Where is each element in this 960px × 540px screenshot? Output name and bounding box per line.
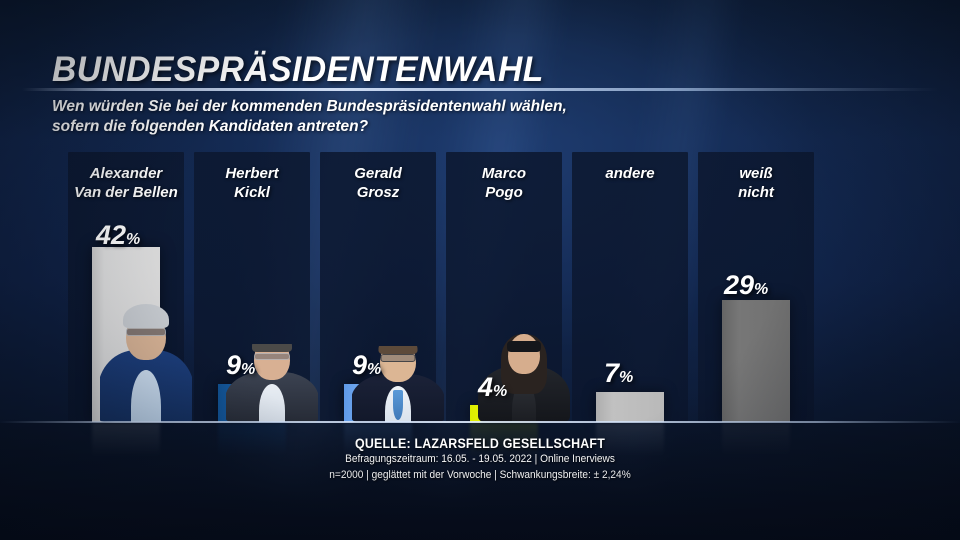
source-title: QUELLE: LAZARSFELD GESELLSCHAFT: [38, 436, 921, 451]
chart-column-weiss-nicht: weißnicht: [698, 152, 814, 422]
source-block: QUELLE: LAZARSFELD GESELLSCHAFT Befragun…: [0, 436, 960, 483]
chart-column-pogo: MarcoPogo: [446, 152, 562, 422]
column-label: weißnicht: [698, 164, 814, 202]
column-label: MarcoPogo: [446, 164, 562, 202]
source-line-2: n=2000 | geglättet mit der Vorwoche | Sc…: [38, 468, 921, 483]
column-label: HerbertKickl: [194, 164, 310, 202]
source-line-1: Befragungszeitraum: 16.05. - 19.05. 2022…: [38, 452, 921, 467]
chart-column-kickl: HerbertKickl: [194, 152, 310, 422]
column-label: andere: [572, 164, 688, 183]
column-label: GeraldGrosz: [320, 164, 436, 202]
broadcast-graphic-stage: BUNDESPRÄSIDENTENWAHL Wen würden Sie bei…: [0, 0, 960, 540]
column-label: AlexanderVan der Bellen: [68, 164, 184, 202]
chart-column-grosz: GeraldGrosz: [320, 152, 436, 422]
chart-column-van-der-bellen: AlexanderVan der Bellen: [68, 152, 184, 422]
chart-column-andere: andere: [572, 152, 688, 422]
